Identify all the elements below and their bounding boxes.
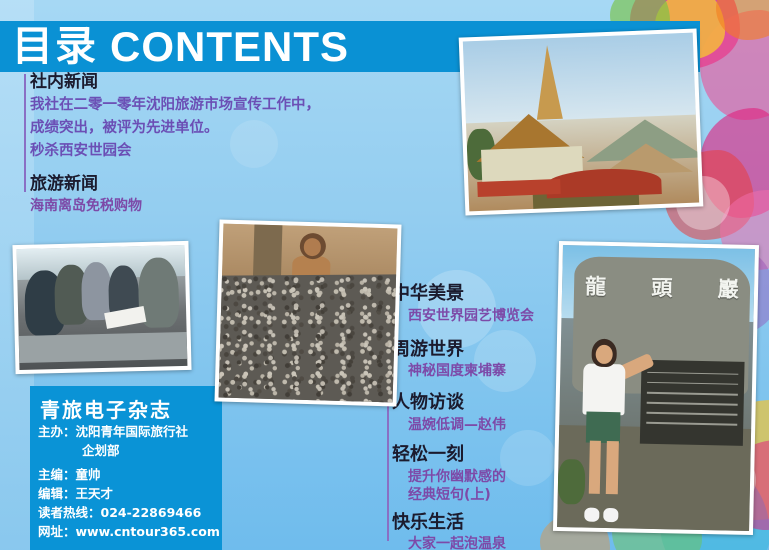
toc-heading-3: 轻松一刻 xyxy=(392,444,572,467)
shells-tray xyxy=(219,274,398,402)
crowd-counter xyxy=(19,332,188,363)
news-travel-heading: 旅游新闻 xyxy=(30,174,390,195)
news-accent-rule xyxy=(24,74,26,192)
girl-shirt xyxy=(582,364,625,416)
toc-sub-3b: 经典短句(上) xyxy=(408,486,572,504)
magazine-info-list: 主办：沈阳青年国际旅行社 企划部 主编：童帅 编辑：王天才 读者热线：024-2… xyxy=(38,422,222,541)
list-item[interactable]: 快乐生活 大家一起泡温泉 xyxy=(392,512,572,550)
list-item[interactable]: 轻松一刻 提升你幽默感的 经典短句(上) xyxy=(392,444,572,504)
news-travel-sub: 海南离岛免税购物 xyxy=(30,197,390,215)
rock-plaque xyxy=(639,359,744,446)
girl-shoe-right xyxy=(603,508,619,522)
contents-list: 中华美景 西安世界园艺博览会 周游世界 神秘国度柬埔寨 人物访谈 温婉低调—赵伟… xyxy=(392,283,572,550)
news-internal-line1: 我社在二零一零年沈阳旅游市场宣传工作中， xyxy=(30,95,390,116)
news-internal-line2: 成绩突出，被评为先进单位。 xyxy=(30,118,390,139)
toc-heading-2: 人物访谈 xyxy=(392,392,572,415)
toc-heading-0: 中华美景 xyxy=(392,283,572,306)
page-title-english: CONTENTS xyxy=(110,26,349,68)
page-title: 目录 CONTENTS xyxy=(12,21,349,72)
magazine-title: 青旅电子杂志 xyxy=(40,394,172,423)
thai-temple-photo-content xyxy=(463,33,699,212)
girl-leg-left xyxy=(588,440,601,494)
list-item[interactable]: 人物访谈 温婉低调—赵伟 xyxy=(392,392,572,434)
publisher-line2: 企划部 xyxy=(38,441,222,460)
shells-stool xyxy=(253,224,282,277)
list-item[interactable]: 周游世界 神秘国度柬埔寨 xyxy=(392,339,572,381)
toc-sub-0: 西安世界园艺博览会 xyxy=(408,307,572,325)
chief-editor: 主编：童帅 xyxy=(38,465,222,484)
toc-heading-1: 周游世界 xyxy=(392,339,572,362)
news-item-travel[interactable]: 旅游新闻 海南离岛免税购物 xyxy=(30,174,390,214)
thai-temple-photo[interactable] xyxy=(459,28,704,215)
crowd-photo-content xyxy=(17,245,188,370)
rock-carving-char-3: 巖 xyxy=(717,274,739,304)
website[interactable]: 网址：www.cntour365.com xyxy=(38,522,222,541)
temple-sky xyxy=(463,33,696,123)
temple-railing xyxy=(477,179,560,197)
toc-sub-4: 大家一起泡温泉 xyxy=(408,535,572,550)
girl-shorts xyxy=(586,412,621,444)
girl-shoe-left xyxy=(584,508,600,522)
shells-photo-content xyxy=(219,224,398,403)
page-title-chinese: 目录 xyxy=(12,26,98,67)
travel-counter-crowd-photo[interactable] xyxy=(12,241,191,374)
toc-sub-2: 温婉低调—赵伟 xyxy=(408,416,572,434)
shells-texture xyxy=(219,274,398,402)
rock-carving-char-2: 頭 xyxy=(651,272,673,302)
list-item[interactable]: 中华美景 西安世界园艺博览会 xyxy=(392,283,572,325)
publisher-line1: 主办：沈阳青年国际旅行社 xyxy=(38,422,222,441)
girl-leg-right xyxy=(606,441,619,495)
rock-carving-char-1: 龍 xyxy=(585,271,607,301)
magazine-info-panel: 青旅电子杂志 主办：沈阳青年国际旅行社 企划部 主编：童帅 编辑：王天才 读者热… xyxy=(30,386,222,550)
hotline: 读者热线：024-22869466 xyxy=(38,503,222,522)
editor: 编辑：王天才 xyxy=(38,484,222,503)
dragon-head-rock-photo[interactable]: 龍 頭 巖 xyxy=(553,241,759,535)
magazine-contents-page: 目录 CONTENTS 社内新闻 我社在二零一零年沈阳旅游市场宣传工作中， 成绩… xyxy=(0,0,769,550)
rock-carving-text: 龍 頭 巖 xyxy=(585,271,739,304)
news-internal-heading: 社内新闻 xyxy=(30,72,390,93)
news-item-internal[interactable]: 社内新闻 我社在二零一零年沈阳旅游市场宣传工作中， 成绩突出，被评为先进单位。 … xyxy=(30,72,390,162)
child-with-shells-photo[interactable] xyxy=(214,219,401,406)
news-internal-line3: 秒杀西安世园会 xyxy=(30,141,390,162)
child-face xyxy=(304,238,322,256)
temple-spire xyxy=(534,45,563,120)
rock-photo-content: 龍 頭 巖 xyxy=(557,245,755,531)
toc-sub-1: 神秘国度柬埔寨 xyxy=(408,362,572,380)
toc-heading-4: 快乐生活 xyxy=(392,512,572,535)
news-section: 社内新闻 我社在二零一零年沈阳旅游市场宣传工作中， 成绩突出，被评为先进单位。 … xyxy=(30,72,390,222)
rock-foliage xyxy=(558,459,586,505)
toc-sub-3a: 提升你幽默感的 xyxy=(408,468,572,486)
